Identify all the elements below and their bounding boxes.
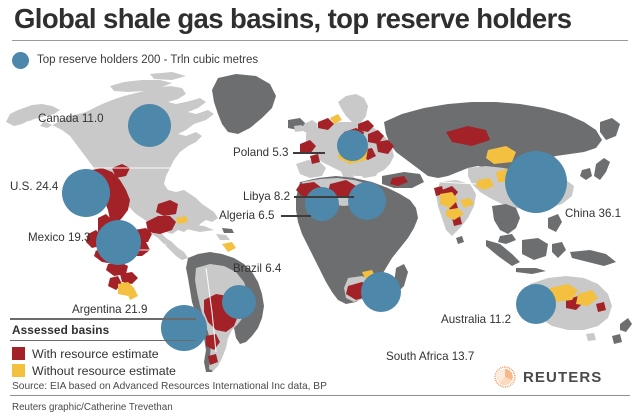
legend-row-without-estimate: Without resource estimate <box>12 362 310 379</box>
land-arctic-isle-a <box>150 72 186 80</box>
red-swatch-icon <box>12 347 25 360</box>
land-caribbean-isles-b <box>222 228 234 233</box>
bubble-mexico <box>96 220 141 265</box>
land-korea <box>580 168 592 180</box>
legend-label-without-estimate: Without resource estimate <box>32 364 176 378</box>
land-philippines <box>548 214 562 232</box>
label-algeria: Algeria 6.5 <box>219 209 274 222</box>
label-argentina: Argentina 21.9 <box>72 303 147 316</box>
label-south-africa: South Africa 13.7 <box>386 350 474 363</box>
leader-libya <box>294 196 354 198</box>
reuters-logo: REUTERS <box>494 366 602 388</box>
land-malaysia <box>498 234 516 244</box>
bubble-south-africa <box>361 272 401 312</box>
land-greenland <box>212 74 276 134</box>
label-poland: Poland 5.3 <box>233 146 288 159</box>
credit-note: Reuters graphic/Catherine Trevethan <box>12 402 173 413</box>
basin-us-gulf <box>120 272 138 284</box>
label-australia: Australia 11.2 <box>441 313 511 326</box>
yellow-swatch-icon <box>12 364 25 377</box>
land-uk <box>302 120 318 134</box>
label-libya: Libya 8.2 <box>243 190 290 203</box>
bubble-size-key: Top reserve holders 200 - Trln cubic met… <box>12 50 258 70</box>
bubble-libya <box>348 182 386 220</box>
land-new-zealand <box>620 318 632 332</box>
land-new-zealand-b <box>612 334 622 344</box>
land-borneo <box>522 238 548 260</box>
blue-circle-icon <box>12 52 29 69</box>
leader-algeria <box>281 215 311 217</box>
land-new-guinea <box>570 250 616 266</box>
bubble-brazil <box>222 285 256 319</box>
infographic-root: Global shale gas basins, top reserve hol… <box>0 0 640 420</box>
land-sri-lanka <box>456 236 464 244</box>
land-sulawesi <box>552 242 566 258</box>
land-iberia <box>296 160 326 178</box>
label-china: China 36.1 <box>565 207 621 220</box>
land-sumatra <box>486 240 520 266</box>
basin-mexico-yellow-2 <box>126 288 138 300</box>
footer-divider <box>10 395 630 396</box>
page-title: Global shale gas basins, top reserve hol… <box>14 2 634 36</box>
label-brazil: Brazil 6.4 <box>233 262 281 275</box>
legend-title: Assessed basins <box>10 320 310 340</box>
basin-sa-yellow <box>222 242 236 252</box>
land-caribbean-cuba <box>186 224 214 232</box>
reuters-wordmark: REUTERS <box>523 369 602 386</box>
bubble-poland <box>337 130 368 161</box>
label-canada: Canada 11.0 <box>38 112 104 125</box>
land-ireland <box>294 125 303 132</box>
land-japan <box>594 158 610 180</box>
bubble-china <box>505 151 567 213</box>
bubble-australia <box>516 284 556 324</box>
land-russia-asia <box>384 102 602 178</box>
bubble-us <box>62 169 110 217</box>
bubble-canada <box>128 104 171 147</box>
land-kamchatka <box>600 118 620 140</box>
bubble-size-key-label: Top reserve holders 200 - Trln cubic met… <box>37 54 258 66</box>
legend-row-with-estimate: With resource estimate <box>12 345 310 362</box>
land-scandinavia <box>338 94 368 124</box>
legend-assessed-basins: Assessed basins With resource estimate W… <box>10 318 310 379</box>
label-mexico: Mexico 19.3 <box>28 231 91 244</box>
label-us: U.S. 24.4 <box>10 180 58 193</box>
land-caribbean-isles <box>216 234 230 240</box>
source-note: Source: EIA based on Advanced Resources … <box>12 381 327 392</box>
land-tasmania <box>586 333 596 341</box>
land-java <box>516 268 546 274</box>
legend-rule-mid <box>10 340 196 342</box>
leader-poland <box>293 152 325 154</box>
reuters-mark-icon <box>494 366 516 388</box>
land-sea-indochina <box>492 204 520 234</box>
title-divider <box>12 40 628 41</box>
legend-label-with-estimate: With resource estimate <box>32 347 159 361</box>
